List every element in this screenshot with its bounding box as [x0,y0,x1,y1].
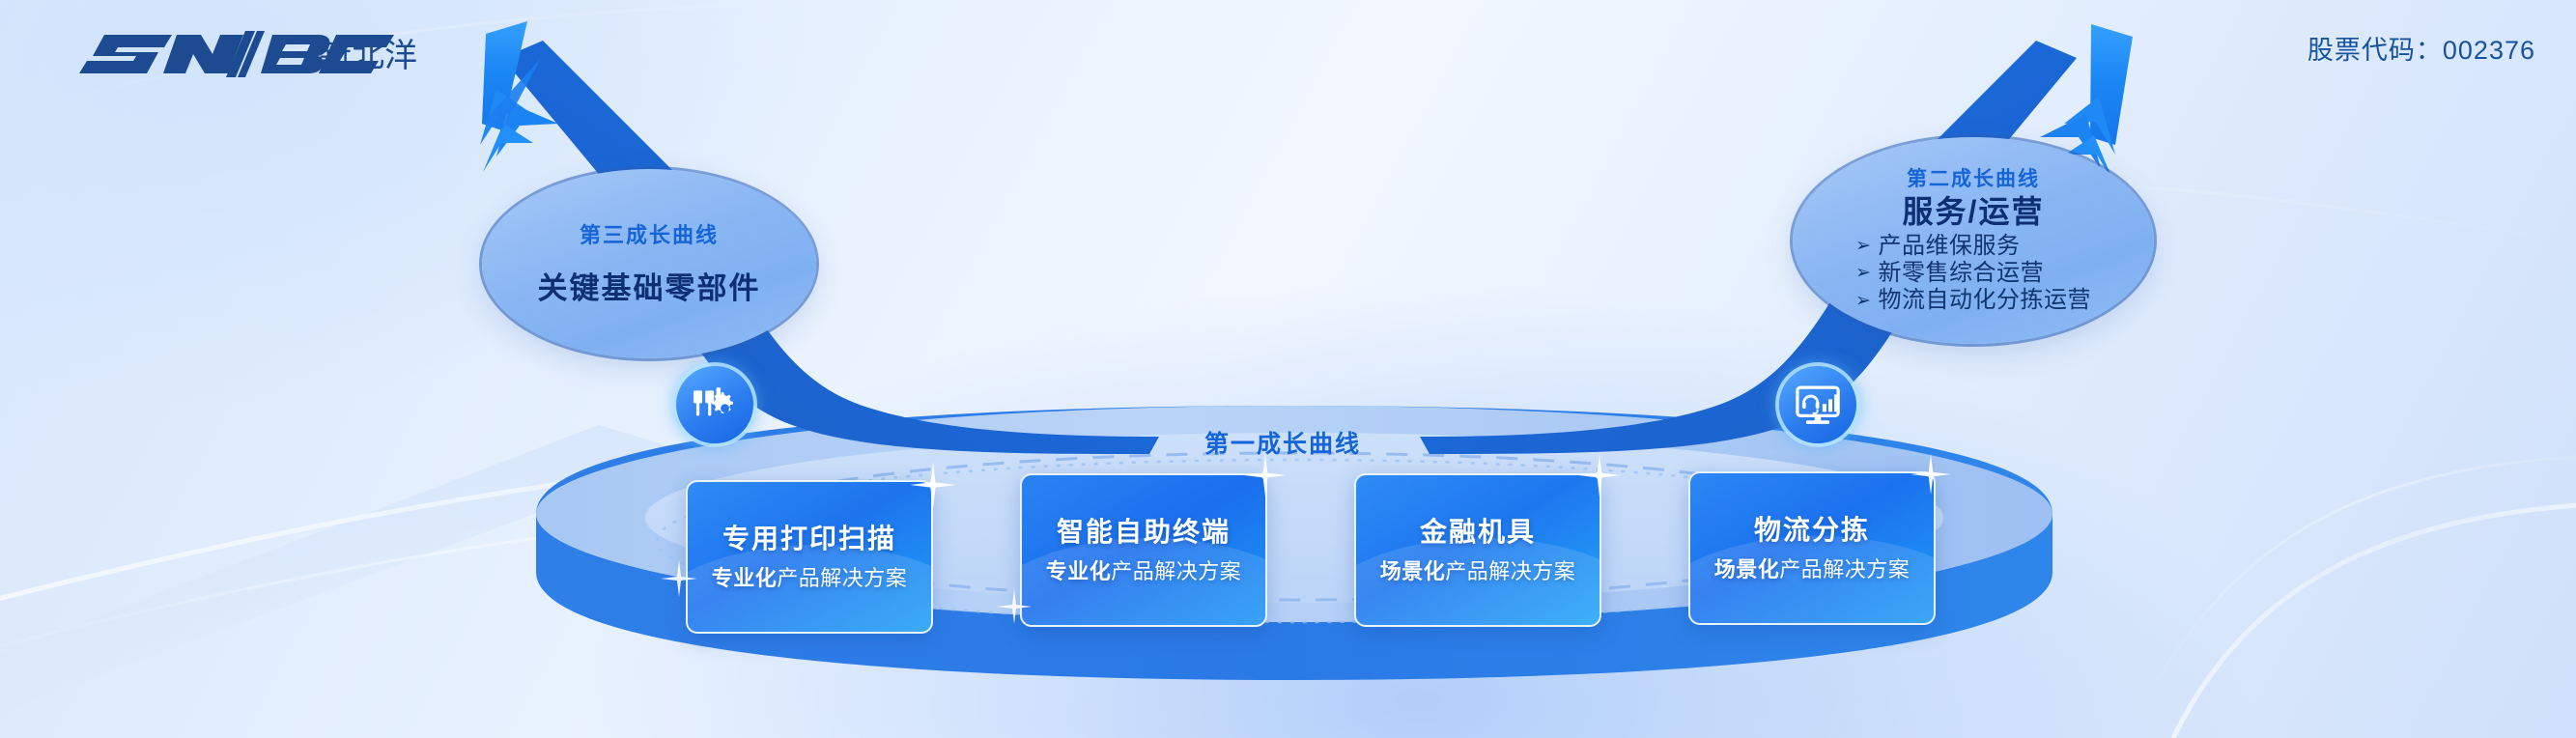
first-curve-label: 第一成长曲线 [1204,425,1361,460]
list-item: ➢ 产品维保服务 [1855,233,2091,260]
third-curve-title: 关键基础零部件 [538,273,761,303]
list-item-label: 产品维保服务 [1878,233,2020,260]
product-card[interactable]: 物流分拣 场景化产品解决方案 [1688,471,1936,625]
product-card-subtitle-rest: 产品解决方案 [777,566,907,590]
third-curve-label: 第三成长曲线 [580,225,719,246]
product-card-subtitle-strong: 专业化 [1046,559,1112,583]
product-card[interactable]: 专用打印扫描 专业化产品解决方案 [686,480,933,634]
product-card-subtitle-strong: 专业化 [712,566,778,590]
monitor-headset-chart-icon[interactable] [1779,366,1856,443]
sliders-gear-glyph [690,380,740,430]
second-curve-bullet-list: ➢ 产品维保服务 ➢ 新零售综合运营 ➢ 物流自动化分拣运营 [1855,233,2091,314]
product-card[interactable]: 金融机具 场景化产品解决方案 [1354,473,1601,627]
infographic-canvas: 新北洋 SNBC 股票代码：002376 第三成长曲线 关键基础零部件 第二成长… [0,0,2576,738]
product-card-subtitle: 专业化产品解决方案 [1046,561,1242,582]
second-curve-bubble[interactable]: 第二成长曲线 服务/运营 ➢ 产品维保服务 ➢ 新零售综合运营 ➢ 物流自动化分… [1793,137,2154,344]
product-card[interactable]: 智能自助终端 专业化产品解决方案 [1020,473,1267,627]
logo-chinese-name: 新北洋 [319,38,417,74]
sliders-gear-icon[interactable] [676,366,753,443]
product-card-subtitle-rest: 产品解决方案 [1779,557,1910,582]
snbc-logo-mark: 新北洋 SNBC [37,21,442,83]
product-card-title: 智能自助终端 [1057,519,1231,546]
second-curve-label: 第二成长曲线 [1907,169,2040,189]
product-card-title: 金融机具 [1420,519,1536,546]
product-card-title: 专用打印扫描 [722,525,896,553]
bullet-arrow-icon: ➢ [1855,237,1871,255]
second-curve-title: 服务/运营 [1903,196,2045,227]
product-card-subtitle-rest: 产品解决方案 [1111,559,1241,583]
list-item-label: 新零售综合运营 [1878,260,2044,287]
product-card-subtitle-strong: 场景化 [1380,559,1446,583]
list-item-label: 物流自动化分拣运营 [1878,287,2091,314]
list-item: ➢ 新零售综合运营 [1855,260,2091,287]
platform-and-curves [0,0,2576,738]
product-card-title: 物流分拣 [1754,517,1870,544]
company-logo: 新北洋 SNBC [37,21,442,83]
product-card-subtitle: 专业化产品解决方案 [712,568,908,589]
monitor-headset-chart-glyph [1793,380,1843,430]
product-card-subtitle: 场景化产品解决方案 [1714,559,1911,581]
third-curve-bubble[interactable]: 第三成长曲线 关键基础零部件 [482,169,816,358]
list-item: ➢ 物流自动化分拣运营 [1855,287,2091,314]
product-card-subtitle-rest: 产品解决方案 [1445,559,1575,583]
product-card-subtitle: 场景化产品解决方案 [1380,561,1576,582]
product-card-subtitle-strong: 场景化 [1714,557,1780,582]
stock-code-label: 股票代码：002376 [2307,29,2535,67]
bullet-arrow-icon: ➢ [1855,264,1871,282]
bullet-arrow-icon: ➢ [1855,292,1871,310]
